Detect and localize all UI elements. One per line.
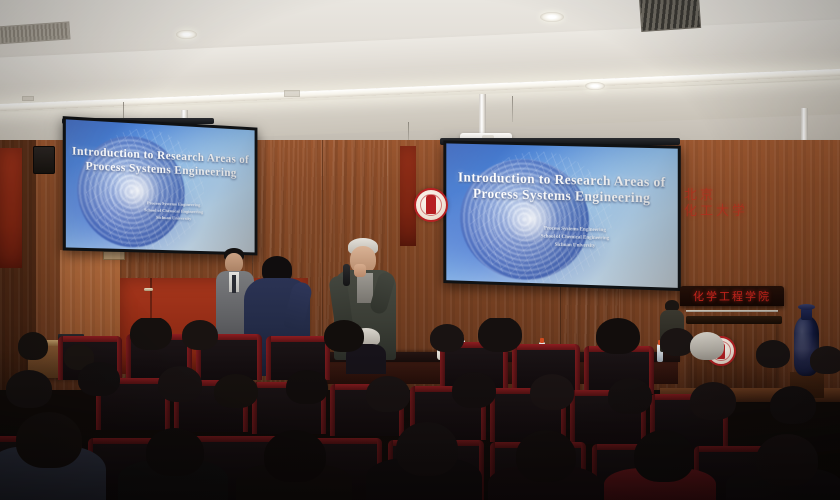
left-red-door-panel bbox=[0, 148, 22, 268]
audience-head bbox=[78, 362, 120, 396]
downlight-2 bbox=[540, 12, 564, 22]
host-head bbox=[225, 253, 243, 273]
ceiling-plate-2 bbox=[22, 96, 34, 101]
ceiling-plate-1 bbox=[284, 90, 300, 97]
seat-side-rail bbox=[257, 334, 262, 380]
audience-head-foreground bbox=[396, 422, 458, 476]
seat-side-rail bbox=[58, 336, 63, 380]
downlight-1 bbox=[176, 30, 197, 39]
right-projection-screen: Introduction to Research Areas of Proces… bbox=[443, 140, 680, 291]
audience-head bbox=[478, 318, 522, 352]
audience-head-foreground bbox=[634, 430, 694, 482]
audience-head-white-hair bbox=[690, 332, 724, 360]
audience-head bbox=[182, 320, 218, 350]
seated-audience bbox=[0, 318, 840, 500]
audience-head-foreground bbox=[516, 430, 576, 482]
projector-mount-pole bbox=[479, 94, 486, 138]
wall-banner-characters: 北京化工大学 bbox=[684, 188, 748, 221]
wall-speaker bbox=[33, 146, 55, 174]
seat-top-rail bbox=[58, 336, 122, 342]
audience-head-foreground bbox=[16, 412, 82, 468]
audience-head-foreground bbox=[146, 428, 204, 476]
door-handle[interactable] bbox=[144, 288, 153, 291]
ceiling-projector-center bbox=[478, 94, 486, 138]
seat-side-rail bbox=[266, 336, 271, 380]
speaker-shirt bbox=[357, 273, 373, 303]
department-sign-text: 化学工程学院 bbox=[693, 288, 771, 304]
audience-head bbox=[18, 332, 48, 360]
vase-lip bbox=[798, 304, 815, 310]
audience-head bbox=[324, 320, 364, 352]
ceiling-vent-right bbox=[639, 0, 701, 32]
audience-head-glasses bbox=[214, 374, 258, 408]
hanger-wire-4 bbox=[512, 96, 513, 122]
seat-side-rail bbox=[330, 384, 335, 436]
right-red-wall bbox=[400, 146, 416, 246]
audience-head bbox=[6, 370, 52, 408]
right-slide-title: Introduction to Research Areas of Proces… bbox=[453, 170, 671, 207]
lecture-hall-photo: Introduction to Research Areas of Proces… bbox=[0, 0, 840, 500]
seat-side-rail bbox=[575, 344, 580, 390]
sign-stripe-upper bbox=[686, 310, 778, 312]
audience-head bbox=[366, 376, 410, 412]
wall-control-plate bbox=[103, 251, 125, 260]
seat-side-rail bbox=[584, 346, 589, 394]
audience-head bbox=[690, 382, 736, 420]
seat-top-rail bbox=[512, 344, 580, 350]
speaker-hand bbox=[354, 264, 366, 277]
ceiling-vent-left bbox=[0, 21, 71, 44]
seat-side-rail bbox=[649, 346, 654, 394]
audience-head bbox=[810, 346, 840, 374]
audience-head bbox=[430, 324, 464, 352]
audience-head bbox=[130, 318, 172, 350]
left-slide: Introduction to Research Areas of Proces… bbox=[66, 119, 255, 252]
audience-head bbox=[596, 318, 640, 354]
audience-head bbox=[608, 378, 652, 414]
audience-head bbox=[756, 340, 790, 368]
audience-head bbox=[530, 374, 574, 410]
downlight-3 bbox=[585, 82, 605, 90]
seat-side-rail bbox=[512, 344, 517, 390]
left-projection-screen: Introduction to Research Areas of Proces… bbox=[63, 116, 258, 255]
audience-head bbox=[158, 366, 202, 402]
audience-head-foreground bbox=[264, 430, 326, 482]
right-slide: Introduction to Research Areas of Proces… bbox=[446, 143, 677, 287]
handheld-microphone[interactable] bbox=[343, 264, 350, 286]
audience-head bbox=[286, 370, 328, 404]
audience-head bbox=[452, 372, 496, 408]
university-emblem-wall bbox=[414, 188, 448, 222]
audience-head-foreground bbox=[756, 434, 818, 486]
audience-head bbox=[770, 386, 816, 424]
host-necktie bbox=[232, 275, 236, 293]
audience-head bbox=[660, 328, 694, 356]
department-sign-board: 化学工程学院 bbox=[680, 286, 784, 306]
seat-top-rail bbox=[266, 336, 330, 342]
